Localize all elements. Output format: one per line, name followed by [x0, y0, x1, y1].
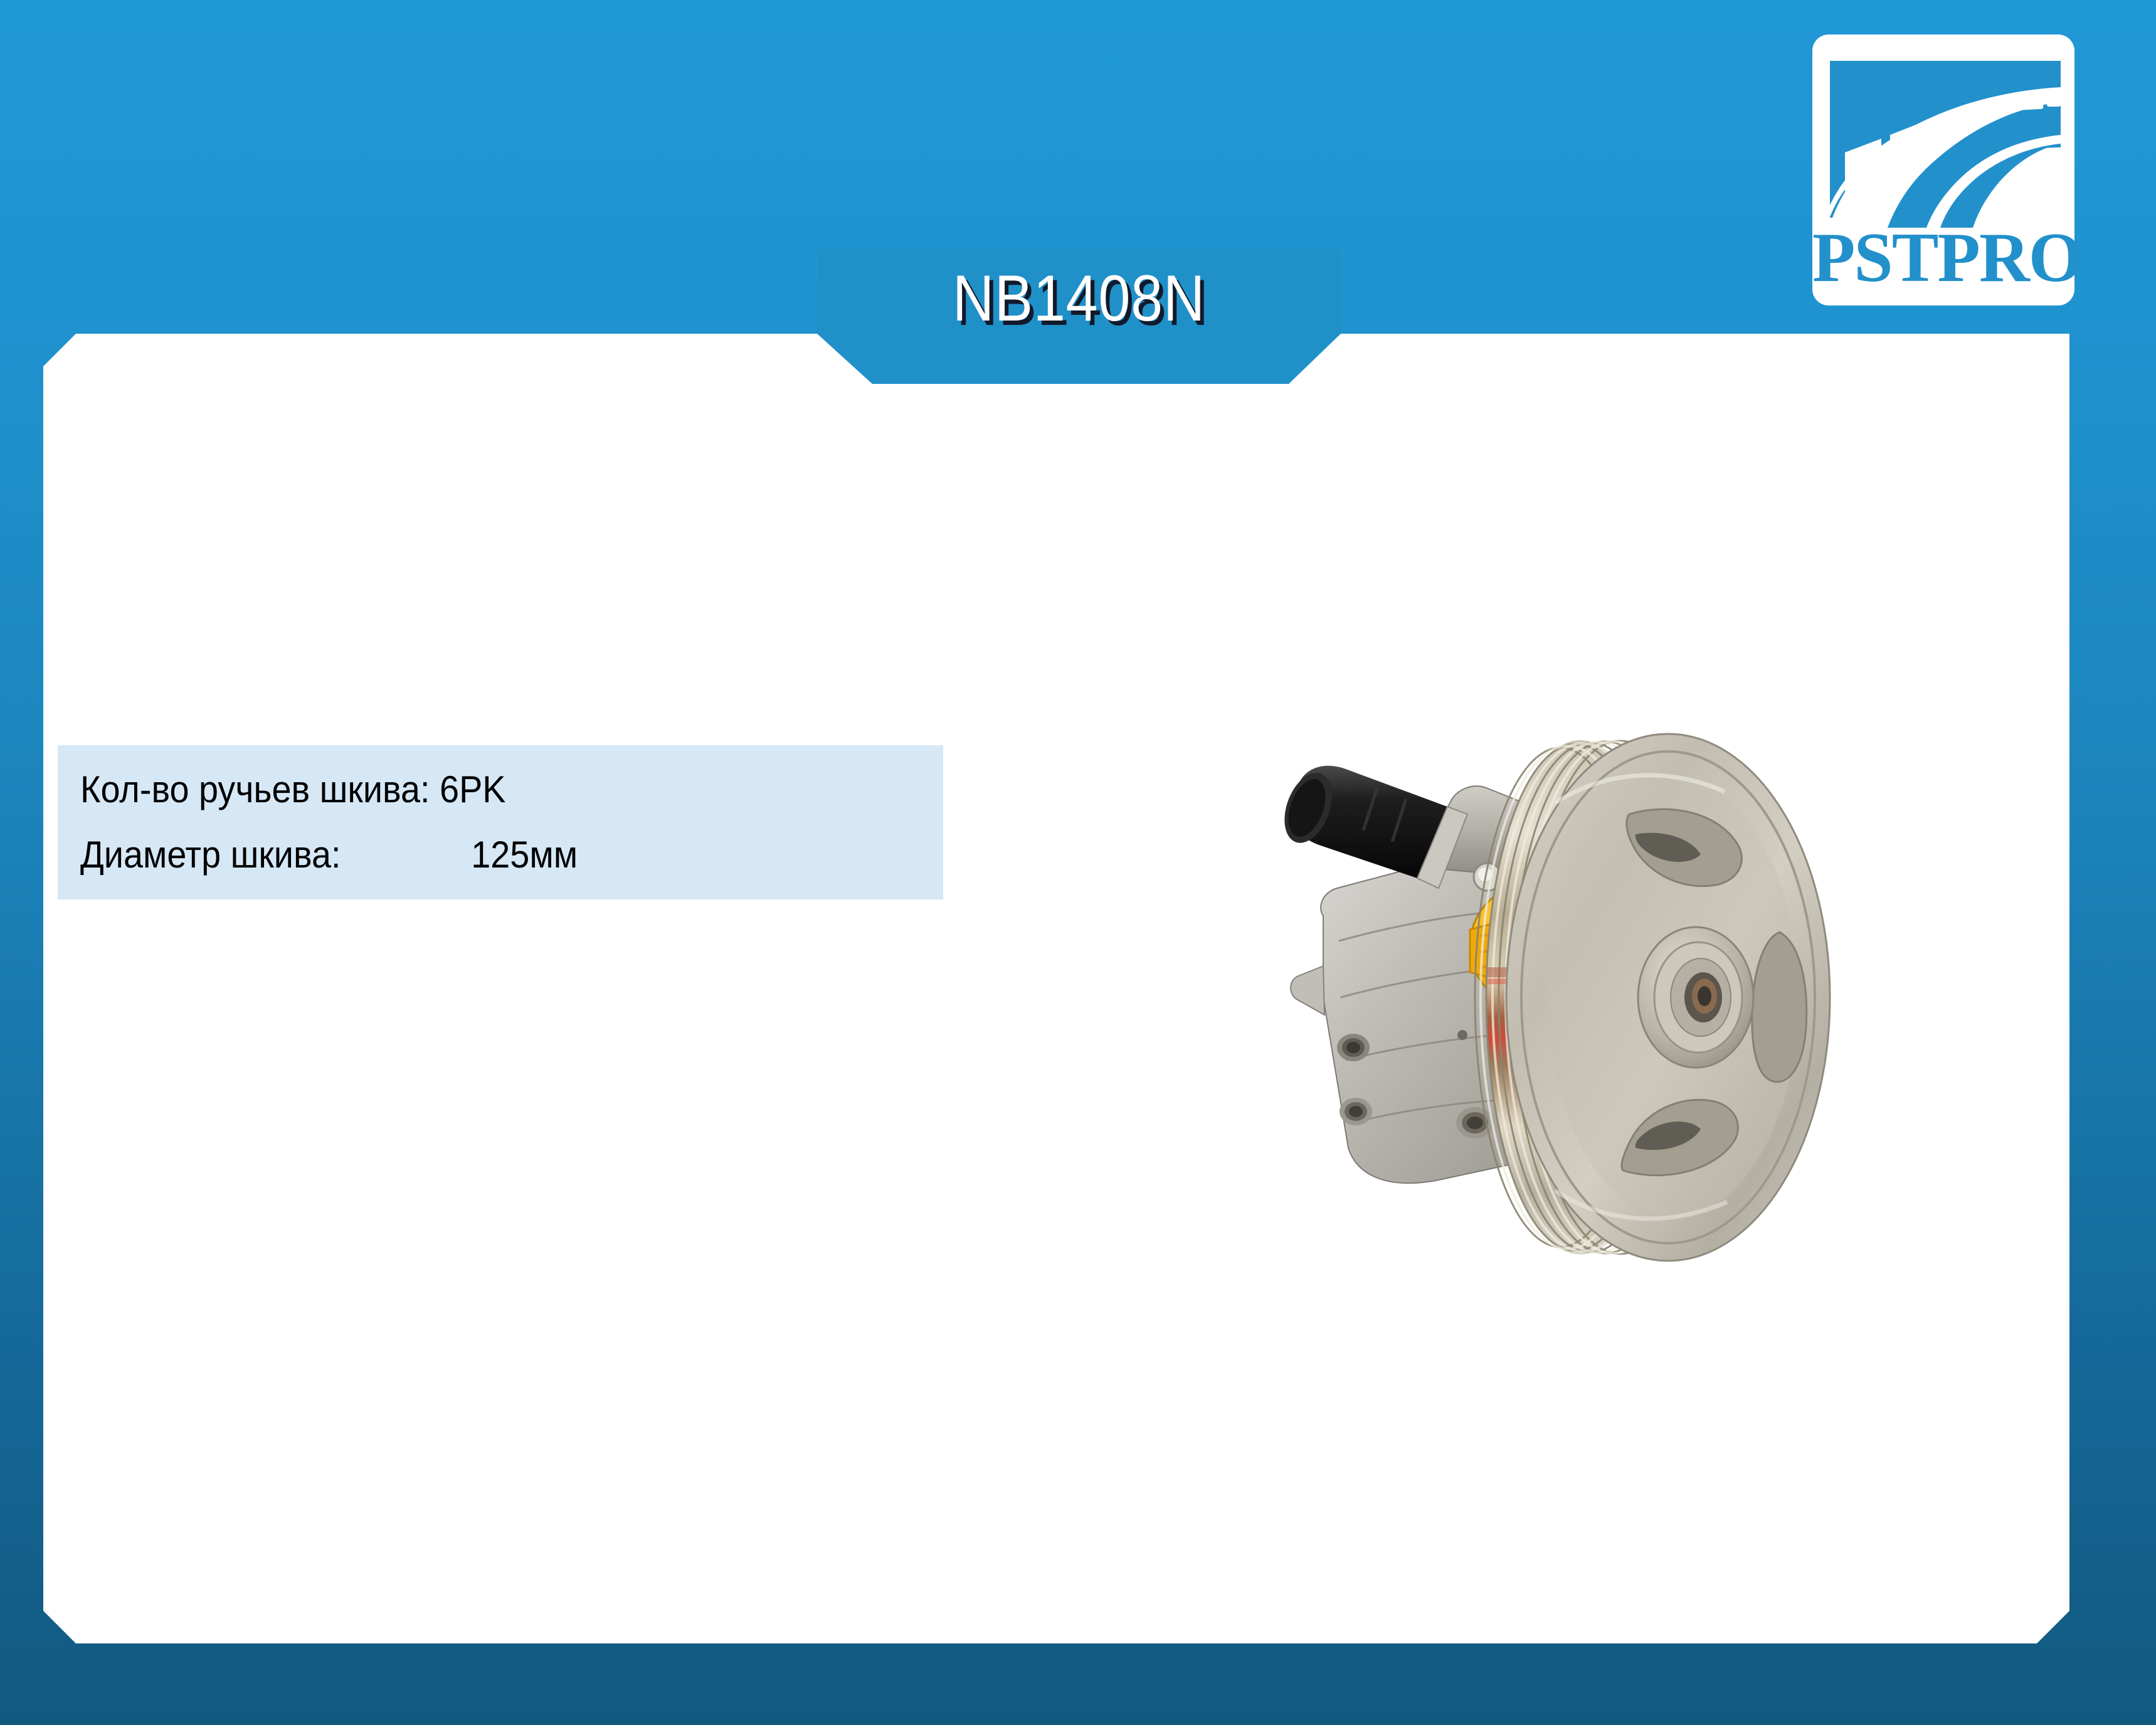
- logo-wordmark: PSTPRO: [1812, 223, 2074, 293]
- spec-row: Кол-во ручьев шкива: 6PK: [80, 768, 506, 811]
- spec-row: Диаметр шкива: 125мм: [80, 833, 578, 876]
- road-highway-icon: [1827, 47, 2061, 228]
- spec-label: Диаметр шкива:: [80, 834, 351, 876]
- brand-logo: PSTPRO: [1812, 34, 2074, 305]
- product-card: NB1408N PSTPRO: [0, 0, 2156, 1725]
- spec-value: 125мм: [471, 834, 578, 876]
- page-title: NB1408N: [848, 248, 1309, 349]
- spec-label: Кол-во ручьев шкива:: [80, 768, 440, 810]
- spec-value: 6PK: [440, 768, 505, 810]
- specification-box: Кол-во ручьев шкива: 6PK Диаметр шкива: …: [58, 745, 943, 900]
- product-image-power-steering-pump: [1229, 646, 1894, 1311]
